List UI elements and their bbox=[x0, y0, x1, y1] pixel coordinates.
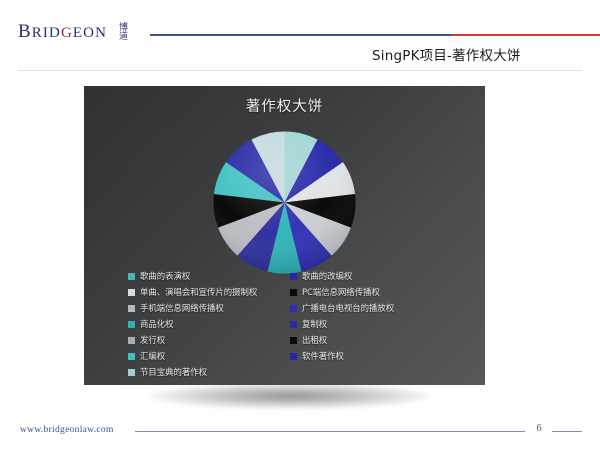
footer-rule-right bbox=[552, 431, 582, 432]
slide-header: BRIDGEON 博 道 SingPK项目-著作权大饼 bbox=[0, 0, 600, 76]
logo-letter-b: B bbox=[18, 21, 32, 42]
legend-item-label: 复制权 bbox=[302, 319, 327, 330]
pie-sheen-overlay bbox=[214, 132, 356, 274]
legend-swatch-icon bbox=[128, 321, 135, 328]
legend-item[interactable]: 节目宝典的著作权 bbox=[128, 365, 280, 379]
chart-legend: 歌曲的表演权单曲、演唱会和宣传片的摄制权手机端信息网络传播权商品化权发行权汇编权… bbox=[128, 269, 478, 379]
legend-item[interactable]: 歌曲的改编权 bbox=[290, 269, 478, 283]
legend-swatch-icon bbox=[128, 353, 135, 360]
legend-swatch-icon bbox=[128, 305, 135, 312]
pie-chart bbox=[211, 129, 358, 276]
legend-item[interactable]: 单曲、演唱会和宣传片的摄制权 bbox=[128, 285, 280, 299]
legend-item-label: 汇编权 bbox=[140, 351, 165, 362]
legend-item[interactable]: 汇编权 bbox=[128, 349, 280, 363]
chart-title: 著作权大饼 bbox=[84, 95, 485, 116]
legend-column-left: 歌曲的表演权单曲、演唱会和宣传片的摄制权手机端信息网络传播权商品化权发行权汇编权… bbox=[128, 269, 280, 379]
legend-item-label: 歌曲的改编权 bbox=[302, 271, 352, 282]
company-logo: BRIDGEON 博 道 bbox=[18, 22, 133, 41]
legend-swatch-icon bbox=[128, 273, 135, 280]
legend-swatch-icon bbox=[128, 337, 135, 344]
logo-letter-g-accent: G bbox=[61, 25, 73, 41]
logo-letter: D bbox=[49, 25, 61, 41]
pie-chart-svg bbox=[211, 129, 358, 276]
legend-item[interactable]: 软件著作权 bbox=[290, 349, 478, 363]
legend-item[interactable]: 出租权 bbox=[290, 333, 478, 347]
legend-item[interactable]: 商品化权 bbox=[128, 317, 280, 331]
legend-item[interactable]: 歌曲的表演权 bbox=[128, 269, 280, 283]
legend-swatch-icon bbox=[290, 305, 297, 312]
header-divider bbox=[18, 70, 582, 71]
legend-swatch-icon bbox=[128, 369, 135, 376]
chart-panel: 著作权大饼 歌曲的表演权单曲、演唱会和宣传片的摄制权手机端信息网络传播权商品化权… bbox=[84, 86, 485, 385]
logo-chinese-mark: 博 道 bbox=[114, 24, 133, 42]
legend-swatch-icon bbox=[290, 353, 297, 360]
legend-swatch-icon bbox=[128, 289, 135, 296]
legend-item-label: 出租权 bbox=[302, 335, 327, 346]
logo-letter: N bbox=[95, 25, 107, 41]
legend-item[interactable]: 发行权 bbox=[128, 333, 280, 347]
slide-title: SingPK项目-著作权大饼 bbox=[372, 44, 521, 64]
legend-item[interactable]: PC端信息网络传播权 bbox=[290, 285, 478, 299]
legend-item-label: 广播电台电视台的播放权 bbox=[302, 303, 394, 314]
legend-swatch-icon bbox=[290, 289, 297, 296]
legend-swatch-icon bbox=[290, 273, 297, 280]
legend-item-label: 手机端信息网络传播权 bbox=[140, 303, 224, 314]
header-rule-blue bbox=[150, 34, 452, 36]
logo-letter: E bbox=[73, 25, 83, 41]
footer-website-url[interactable]: www.bridgeonlaw.com bbox=[20, 425, 114, 435]
logo-wordmark: BRIDGEON bbox=[18, 22, 107, 41]
legend-item[interactable]: 广播电台电视台的播放权 bbox=[290, 301, 478, 315]
legend-swatch-icon bbox=[290, 321, 297, 328]
legend-swatch-icon bbox=[290, 337, 297, 344]
header-rule-red bbox=[452, 34, 600, 36]
logo-chinese-char-2: 道 bbox=[114, 33, 133, 42]
legend-item-label: 商品化权 bbox=[140, 319, 174, 330]
chart-panel-shadow bbox=[150, 383, 430, 409]
legend-item-label: 节目宝典的著作权 bbox=[140, 367, 207, 378]
legend-item-label: 发行权 bbox=[140, 335, 165, 346]
footer-rule-left bbox=[135, 431, 525, 432]
legend-item-label: PC端信息网络传播权 bbox=[302, 287, 380, 298]
legend-item-label: 单曲、演唱会和宣传片的摄制权 bbox=[140, 287, 257, 298]
legend-item-label: 歌曲的表演权 bbox=[140, 271, 190, 282]
legend-item[interactable]: 复制权 bbox=[290, 317, 478, 331]
page-number: 6 bbox=[530, 423, 548, 434]
legend-column-right: 歌曲的改编权PC端信息网络传播权广播电台电视台的播放权复制权出租权软件著作权 bbox=[290, 269, 478, 379]
logo-letter: R bbox=[32, 25, 43, 41]
legend-item-label: 软件著作权 bbox=[302, 351, 344, 362]
logo-letter: O bbox=[83, 25, 95, 41]
legend-item[interactable]: 手机端信息网络传播权 bbox=[128, 301, 280, 315]
